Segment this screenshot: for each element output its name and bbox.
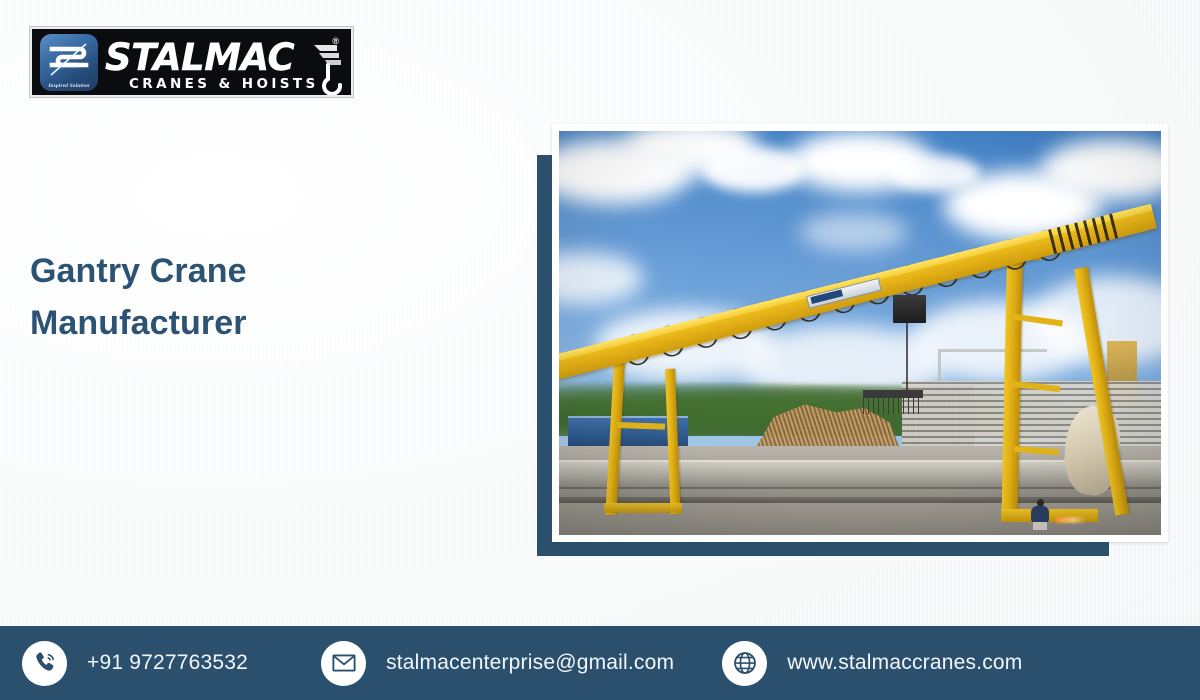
crane-hook-icon: [311, 41, 345, 97]
company-logo[interactable]: Inspired Solution STALMAC CRANES & HOIST…: [30, 27, 353, 97]
contact-website[interactable]: www.stalmaccranes.com: [722, 641, 1022, 686]
phone-number: +91 9727763532: [87, 651, 248, 675]
contact-footer-bar: +91 9727763532 stalmacenterprise@gmail.c…: [0, 626, 1200, 700]
lifting-spreader-beam: [863, 390, 923, 398]
contact-phone[interactable]: +91 9727763532: [22, 641, 248, 686]
hero-image-frame: [552, 124, 1168, 542]
site-worker: [1030, 499, 1050, 529]
logo-wordmark: STALMAC CRANES & HOISTS ®: [103, 33, 343, 91]
logo-name: STALMAC: [105, 39, 294, 76]
hoist-rope: [906, 321, 908, 390]
precast-concrete-stacks: [902, 381, 1161, 454]
logo-tagline: Inspired Solution: [40, 83, 98, 89]
electric-hoist-trolley: [893, 295, 926, 323]
website-url: www.stalmaccranes.com: [787, 651, 1022, 675]
globe-icon: [722, 641, 767, 686]
spreader-hooks: [863, 398, 923, 414]
phone-icon: [22, 641, 67, 686]
sill-beam-left: [604, 503, 682, 514]
page-title: Gantry Crane Manufacturer: [30, 245, 390, 349]
gantry-crane-photo: [559, 131, 1161, 535]
welding-spark: [1056, 517, 1086, 523]
email-address: stalmacenterprise@gmail.com: [386, 651, 674, 675]
stalmac-s-monogram-icon: Inspired Solution: [40, 34, 98, 91]
headline-line-1: Gantry Crane: [30, 245, 390, 297]
contact-email[interactable]: stalmacenterprise@gmail.com: [321, 641, 674, 686]
logo-subtitle: CRANES & HOISTS: [129, 78, 319, 92]
headline-line-2: Manufacturer: [30, 297, 390, 349]
poster-canvas: Inspired Solution STALMAC CRANES & HOIST…: [0, 0, 1200, 700]
email-icon: [321, 641, 366, 686]
